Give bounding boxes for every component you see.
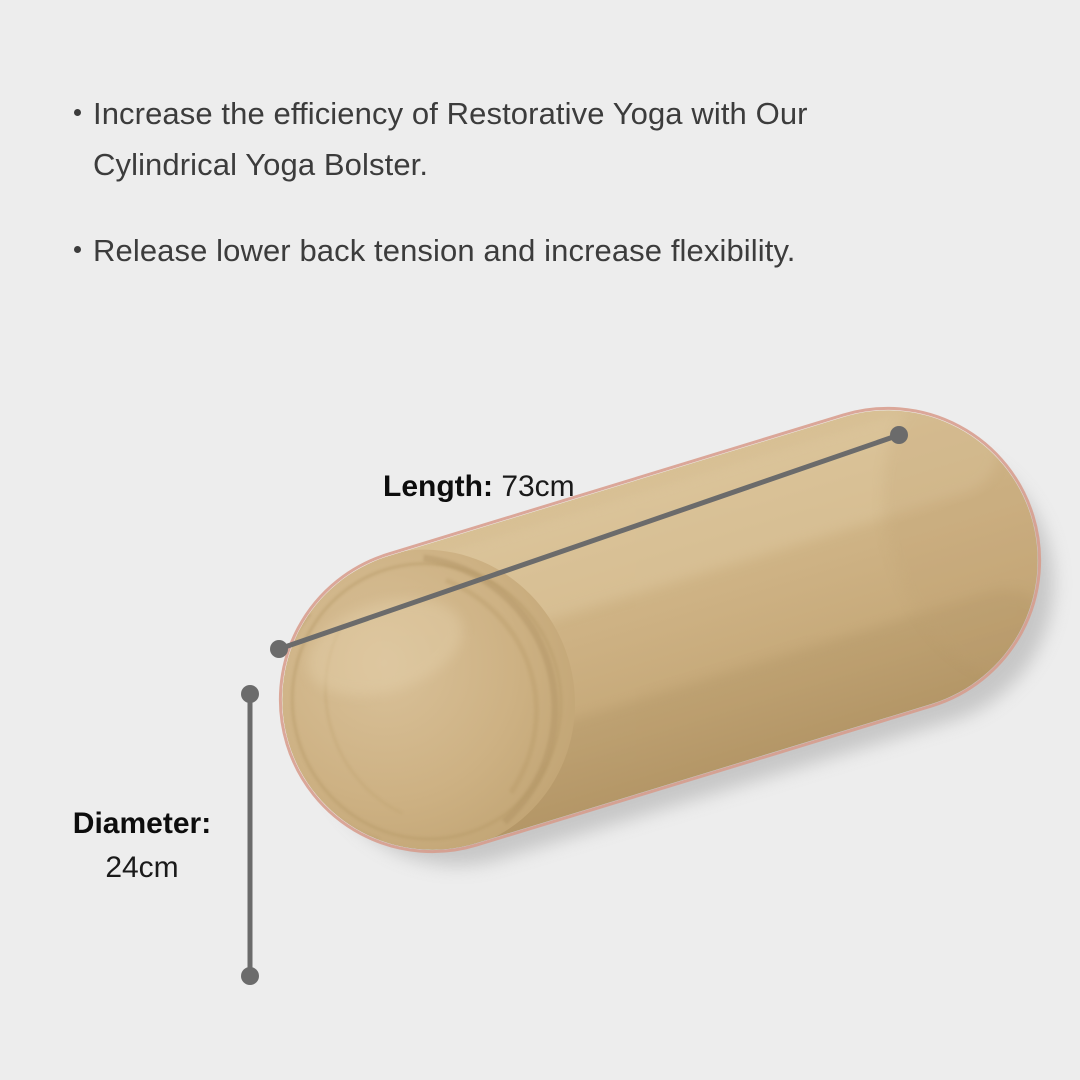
end-cap-crease	[424, 532, 589, 822]
end-cap-seam-inner	[248, 614, 379, 859]
end-cap-face	[241, 513, 613, 890]
body-top-highlight	[256, 387, 1011, 701]
product-infographic: Increase the efficiency of Restorative Y…	[0, 0, 1080, 1080]
diameter-endpoint-top-dot-icon	[241, 685, 259, 703]
cap-crease-a	[302, 622, 402, 826]
length-endpoint-start-dot-icon	[270, 640, 288, 658]
benefit-text: Increase the efficiency of Restorative Y…	[93, 88, 814, 191]
length-endpoint-end-dot-icon	[890, 426, 908, 444]
bolster-surface-detail	[241, 359, 1080, 904]
list-item: Release lower back tension and increase …	[74, 225, 814, 276]
diameter-endpoint-bottom-dot-icon	[241, 967, 259, 985]
bullet-dot-icon	[74, 109, 81, 116]
fabric-striations	[526, 441, 891, 787]
cap-highlight	[296, 582, 475, 713]
end-cap-seam-outer	[258, 530, 595, 872]
bullet-dot-icon	[74, 246, 81, 253]
diameter-dimension-line	[241, 685, 259, 985]
length-label-text: Length:	[383, 470, 493, 503]
length-label: Length: 73cm	[383, 470, 575, 504]
diameter-value: 24cm	[52, 846, 232, 890]
length-line	[279, 435, 899, 649]
product-rim-highlight	[243, 371, 1078, 890]
benefit-text: Release lower back tension and increase …	[93, 225, 796, 276]
body-bottom-shade	[314, 576, 1073, 903]
benefits-list: Increase the efficiency of Restorative Y…	[74, 88, 814, 310]
diameter-label: Diameter: 24cm	[52, 802, 232, 889]
length-dimension-line	[270, 426, 908, 658]
list-item: Increase the efficiency of Restorative Y…	[74, 88, 814, 191]
bolster-body	[245, 373, 1075, 887]
right-end-shade	[849, 359, 1080, 702]
fabric-fold	[446, 565, 563, 793]
length-value: 73cm	[501, 470, 574, 503]
diameter-label-text: Diameter:	[73, 807, 211, 840]
